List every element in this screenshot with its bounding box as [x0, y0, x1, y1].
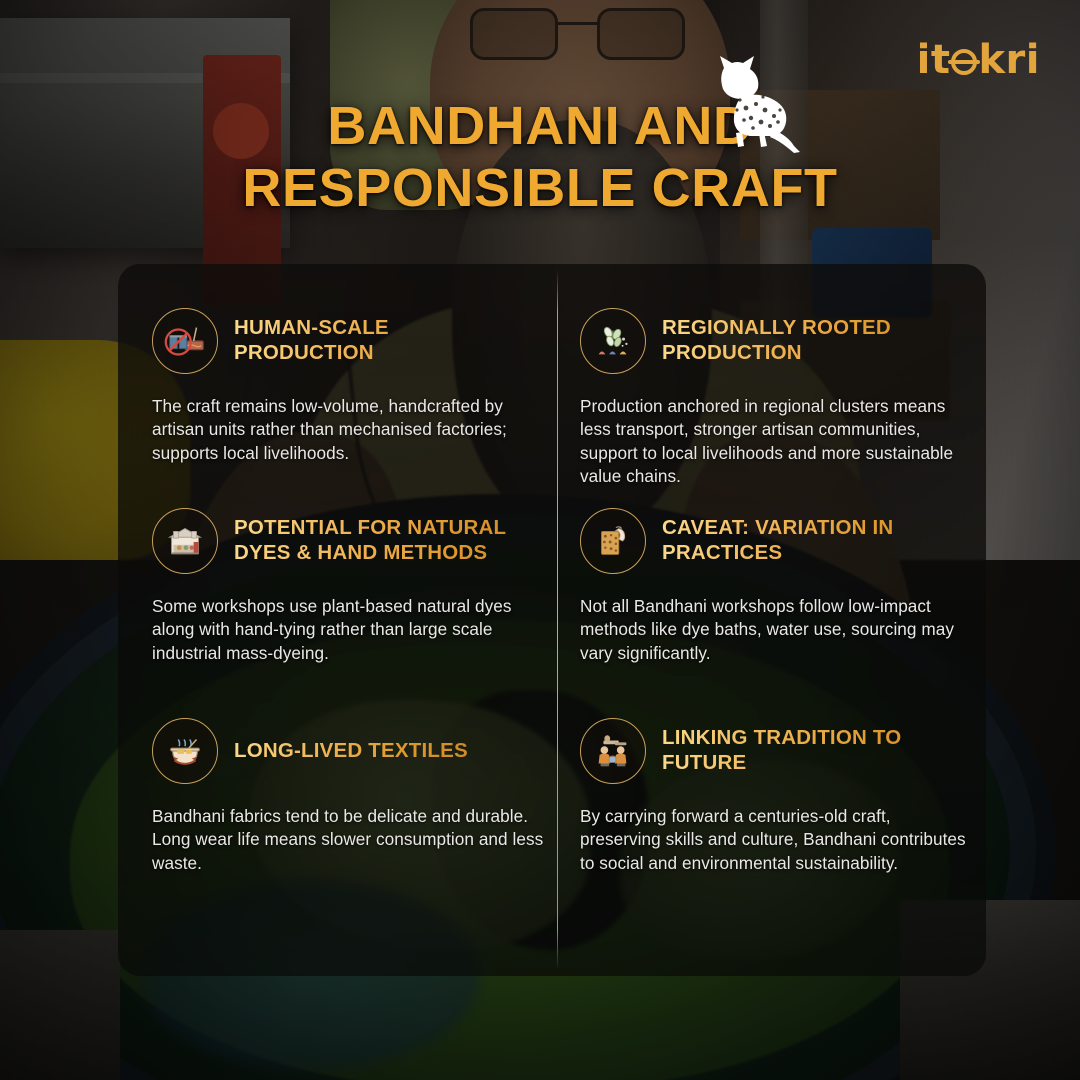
two-artisans-working-icon — [580, 718, 646, 784]
left-column: HUMAN-SCALE PRODUCTION The craft remains… — [118, 264, 552, 976]
feature-title: HUMAN-SCALE PRODUCTION — [234, 316, 534, 365]
feature-item-human-scale-production: HUMAN-SCALE PRODUCTION The craft remains… — [118, 308, 552, 465]
title-line-2: RESPONSIBLE CRAFT — [0, 158, 1080, 220]
feature-body: Not all Bandhani workshops follow low-im… — [580, 595, 975, 665]
bandhani-cat-illustration-icon — [690, 52, 805, 157]
feature-title: REGIONALLY ROOTED PRODUCTION — [662, 316, 962, 365]
feature-body: Some workshops use plant-based natural d… — [152, 595, 547, 665]
leaves-and-natural-dye-piles-icon — [580, 308, 646, 374]
feature-title: LINKING TRADITION TO FUTURE — [662, 726, 962, 775]
logo-o-mark-icon — [951, 49, 977, 75]
feature-body: The craft remains low-volume, handcrafte… — [152, 395, 547, 465]
feature-item-long-lived-textiles: LONG-LIVED TEXTILES Bandhani fabrics ten… — [118, 718, 552, 875]
no-factory-machine-icon — [152, 308, 218, 374]
title-line-1: BANDHANI AND — [0, 96, 1080, 158]
feature-item-regionally-rooted-production: REGIONALLY ROOTED PRODUCTION Production … — [558, 308, 992, 489]
feature-title: LONG-LIVED TEXTILES — [234, 739, 468, 764]
right-column: REGIONALLY ROOTED PRODUCTION Production … — [558, 264, 992, 976]
feature-item-linking-tradition-to-future: LINKING TRADITION TO FUTURE By carrying … — [558, 718, 992, 875]
artisan-workshop-building-icon — [152, 508, 218, 574]
feature-body: Bandhani fabrics tend to be delicate and… — [152, 805, 547, 875]
page-title: BANDHANI AND RESPONSIBLE CRAFT — [0, 96, 1080, 219]
itokri-logo[interactable]: itkri — [917, 40, 1040, 80]
brand-logo-text: itkri — [917, 37, 1040, 83]
feature-title: POTENTIAL FOR NATURAL DYES & HAND METHOD… — [234, 516, 534, 565]
feature-item-caveat-variation-in-practices: CAVEAT: VARIATION IN PRACTICES Not all B… — [558, 508, 992, 665]
hand-holding-patterned-fabric-icon — [580, 508, 646, 574]
content-card: HUMAN-SCALE PRODUCTION The craft remains… — [118, 264, 986, 976]
steaming-dye-pot-recycle-icon — [152, 718, 218, 784]
feature-body: Production anchored in regional clusters… — [580, 395, 975, 489]
feature-body: By carrying forward a centuries-old craf… — [580, 805, 975, 875]
feature-title: CAVEAT: VARIATION IN PRACTICES — [662, 516, 962, 565]
feature-item-natural-dyes-hand-methods: POTENTIAL FOR NATURAL DYES & HAND METHOD… — [118, 508, 552, 665]
infographic-poster: itkri BANDHANI AND RESPONSIBLE CRAFT — [0, 0, 1080, 1080]
